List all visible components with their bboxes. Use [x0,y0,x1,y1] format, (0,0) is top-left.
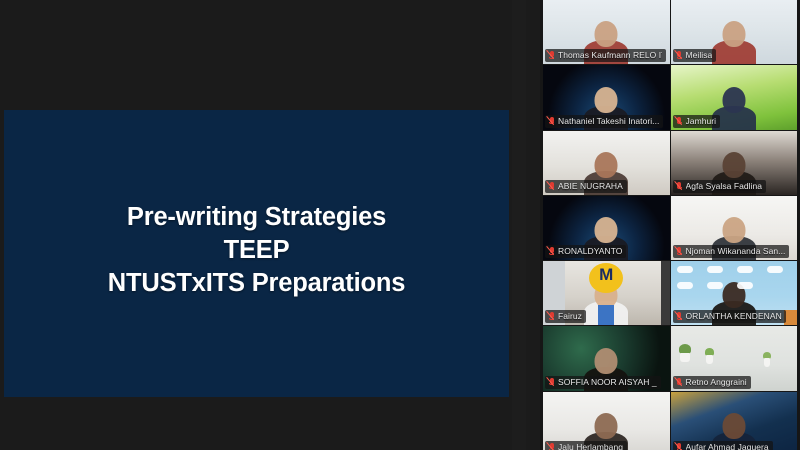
participant-filmstrip[interactable]: Thomas Kaufmann RELO IT...MeilisaNathani… [540,0,800,450]
participant-name-label: Retno Anggraini [686,376,747,389]
participant-name-label: Thomas Kaufmann RELO IT... [558,49,662,62]
cloud-shape [677,266,693,273]
cloud-shape [707,282,723,289]
microphone-muted-icon [548,443,555,450]
participant-silhouette-head [595,413,618,439]
microphone-muted-icon [548,312,555,321]
participant-name-plate: Meilisa [673,49,717,62]
participant-tile[interactable]: SOFFIA NOOR AISYAH _ [543,326,670,390]
microphone-muted-icon [548,182,555,191]
slide-line-1: Pre-writing Strategies [108,201,405,234]
participant-tile[interactable]: Meilisa [671,0,798,64]
participant-name-label: Fairuz [558,310,582,323]
participant-silhouette-head [722,152,745,178]
participant-name-plate: RONALDYANTO [545,245,626,258]
participant-name-plate: Nathaniel Takeshi Inatori... [545,115,663,128]
microphone-muted-icon [676,443,683,450]
cloud-shape [677,282,693,289]
participant-tile[interactable]: Njoman Wikananda San... [671,196,798,260]
participant-name-label: Nathaniel Takeshi Inatori... [558,115,659,128]
participant-silhouette-head [595,348,618,374]
slide-text-block: Pre-writing Strategies TEEP NTUSTxITS Pr… [108,201,405,306]
participant-silhouette-head [595,152,618,178]
microphone-muted-icon [676,247,683,256]
slide-line-3: NTUSTxITS Preparations [108,267,405,300]
participant-silhouette-head [595,87,618,113]
participant-tile[interactable]: RONALDYANTO [543,196,670,260]
plant-pot [706,355,713,364]
microphone-muted-icon [548,247,555,256]
slide-line-2: TEEP [108,234,405,267]
logo-letter: M [599,265,613,285]
participant-silhouette-head [722,413,745,439]
presentation-slide: Pre-writing Strategies TEEP NTUSTxITS Pr… [4,110,509,397]
microphone-muted-icon [548,378,555,387]
plant-pot [764,358,770,367]
microphone-muted-icon [548,51,555,60]
participant-name-label: ABIE NUGRAHA [558,180,623,193]
participant-tile[interactable]: ABIE NUGRAHA [543,131,670,195]
participant-silhouette-head [722,87,745,113]
participant-name-plate: Agfa Syalsa Fadlina [673,180,767,193]
shared-content-right-edge [661,261,670,325]
participant-name-label: Aufar Ahmad Jaquera [686,441,769,450]
podium [598,305,614,325]
participant-name-label: Agfa Syalsa Fadlina [686,180,763,193]
cloud-shape [737,282,753,289]
microphone-muted-icon [676,378,683,387]
participant-name-plate: Fairuz [545,310,586,323]
participant-name-plate: Retno Anggraini [673,376,751,389]
participant-name-plate: Aufar Ahmad Jaquera [673,441,773,450]
participant-silhouette-head [595,21,618,47]
participant-tile[interactable]: Aufar Ahmad Jaquera [671,392,798,450]
cloud-shape [767,266,783,273]
participant-tile[interactable]: Jamhuri [671,65,798,129]
participant-name-plate: Njoman Wikananda San... [673,245,790,258]
shared-screen-stage[interactable]: Pre-writing Strategies TEEP NTUSTxITS Pr… [0,0,530,450]
participant-name-plate: ABIE NUGRAHA [545,180,627,193]
participant-name-label: Jamhuri [686,115,717,128]
participant-tile[interactable]: Nathaniel Takeshi Inatori... [543,65,670,129]
participant-name-plate: Thomas Kaufmann RELO IT... [545,49,666,62]
microphone-muted-icon [676,182,683,191]
participant-name-plate: Jalu Herlambang [545,441,627,450]
microphone-muted-icon [676,51,683,60]
cloud-shape [707,266,723,273]
participant-silhouette-head [722,21,745,47]
participant-tile[interactable]: ORLANTHA KENDENAN [671,261,798,325]
participant-name-label: RONALDYANTO [558,245,622,258]
microphone-muted-icon [676,312,683,321]
participant-name-plate: Jamhuri [673,115,721,128]
participant-tile[interactable]: Retno Anggraini [671,326,798,390]
tile-corner-marker [784,310,797,325]
participant-tile[interactable]: Jalu Herlambang [543,392,670,450]
participant-name-label: ORLANTHA KENDENAN [686,310,782,323]
participant-silhouette-head [595,217,618,243]
plant-pot [680,353,690,362]
participant-tile[interactable]: Thomas Kaufmann RELO IT... [543,0,670,64]
participant-name-label: Jalu Herlambang [558,441,623,450]
participant-name-label: Njoman Wikananda San... [686,245,786,258]
participant-silhouette-head [722,217,745,243]
microphone-muted-icon [548,117,555,126]
participant-name-plate: ORLANTHA KENDENAN [673,310,786,323]
cloud-shape [737,266,753,273]
participant-name-label: SOFFIA NOOR AISYAH _ [558,376,657,389]
participant-name-label: Meilisa [686,49,713,62]
participant-name-plate: SOFFIA NOOR AISYAH _ [545,376,661,389]
filmstrip-scrollbar-track[interactable] [512,0,526,450]
microphone-muted-icon [676,117,683,126]
participant-tile[interactable]: MFairuz [543,261,670,325]
participant-tile[interactable]: Agfa Syalsa Fadlina [671,131,798,195]
